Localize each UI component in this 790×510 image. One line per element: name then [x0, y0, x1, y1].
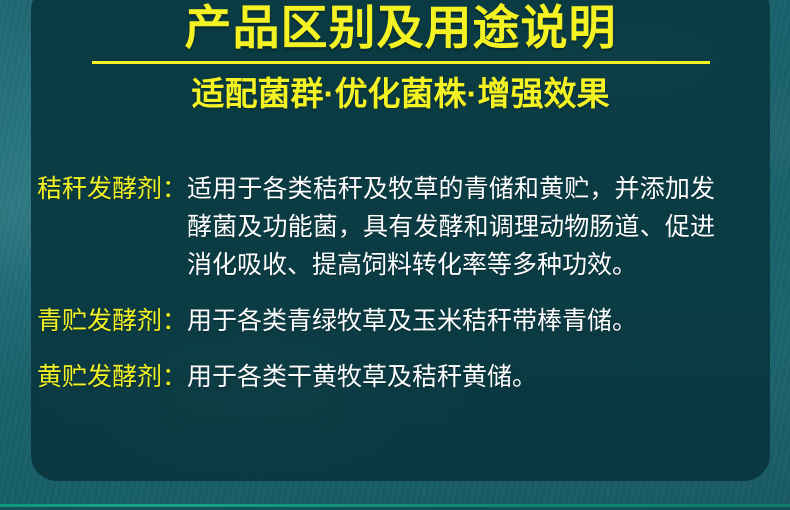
description-text-straw: 适用于各类秸秆及牧草的青储和黄贮，并添加发酵菌及功能菌，具有发酵和调理动物肠道、… — [187, 170, 715, 284]
description-list: 秸秆发酵剂： 适用于各类秸秆及牧草的青储和黄贮，并添加发酵菌及功能菌，具有发酵和… — [31, 170, 770, 396]
description-item-straw: 秸秆发酵剂： 适用于各类秸秆及牧草的青储和黄贮，并添加发酵菌及功能菌，具有发酵和… — [31, 170, 770, 284]
title-underline-divider — [92, 61, 710, 64]
sub-title: 适配菌群·优化菌株·增强效果 — [31, 73, 770, 114]
product-description-poster: 产品区别及用途说明 适配菌群·优化菌株·增强效果 秸秆发酵剂： 适用于各类秸秆及… — [0, 0, 790, 510]
description-text-silage: 用于各类青绿牧草及玉米秸秆带棒青储。 — [187, 302, 762, 340]
description-label-straw: 秸秆发酵剂： — [37, 170, 187, 208]
description-label-silage: 青贮发酵剂： — [37, 302, 187, 340]
description-item-silage: 青贮发酵剂： 用于各类青绿牧草及玉米秸秆带棒青储。 — [31, 302, 770, 340]
main-title: 产品区别及用途说明 — [31, 0, 770, 59]
description-label-dry-storage: 黄贮发酵剂： — [37, 358, 187, 396]
content-card: 产品区别及用途说明 适配菌群·优化菌株·增强效果 秸秆发酵剂： 适用于各类秸秆及… — [31, 0, 770, 481]
description-item-dry-storage: 黄贮发酵剂： 用于各类干黄牧草及秸秆黄储。 — [31, 358, 770, 396]
description-text-dry-storage: 用于各类干黄牧草及秸秆黄储。 — [187, 358, 762, 396]
title-block: 产品区别及用途说明 适配菌群·优化菌株·增强效果 — [31, 0, 770, 115]
